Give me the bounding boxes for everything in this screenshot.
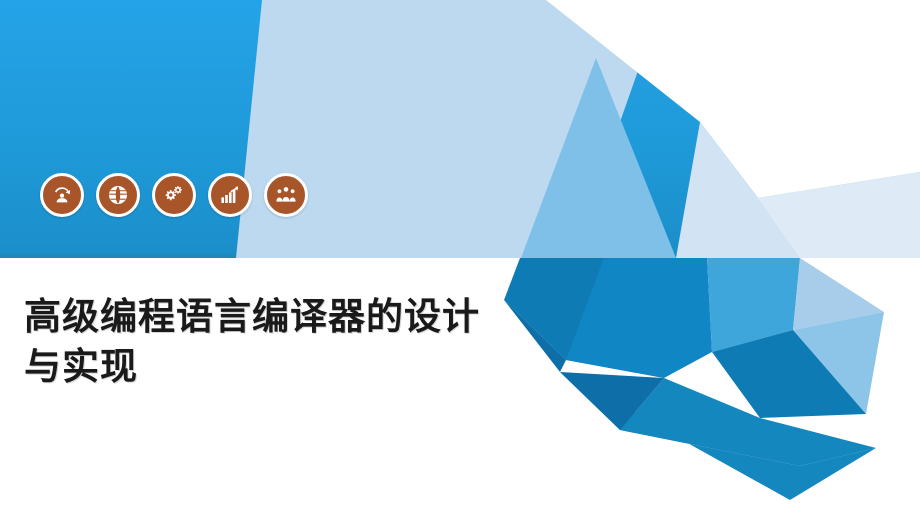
icon-badge-row (40, 173, 308, 217)
page-title-line-2: 与实现 (24, 342, 564, 392)
tagline: 数智创新 变革未来 (715, 26, 898, 56)
icon-badge-refresh-people[interactable] (40, 173, 84, 217)
globe-icon (106, 183, 130, 207)
icon-badge-people-group[interactable] (264, 173, 308, 217)
icon-badge-globe[interactable] (96, 173, 140, 217)
presentation-slide: 数智创新 变革未来 (0, 0, 920, 518)
icon-badge-gears[interactable] (152, 173, 196, 217)
page-title-line-1: 高级编程语言编译器的设计 (24, 292, 564, 342)
low-poly-artwork (0, 0, 920, 518)
bar-chart-growth-icon (218, 183, 242, 207)
page-title: 高级编程语言编译器的设计 与实现 (24, 292, 564, 393)
icon-badge-bar-chart-growth[interactable] (208, 173, 252, 217)
refresh-people-icon (50, 183, 74, 207)
gears-icon (162, 183, 186, 207)
people-group-icon (274, 183, 298, 207)
